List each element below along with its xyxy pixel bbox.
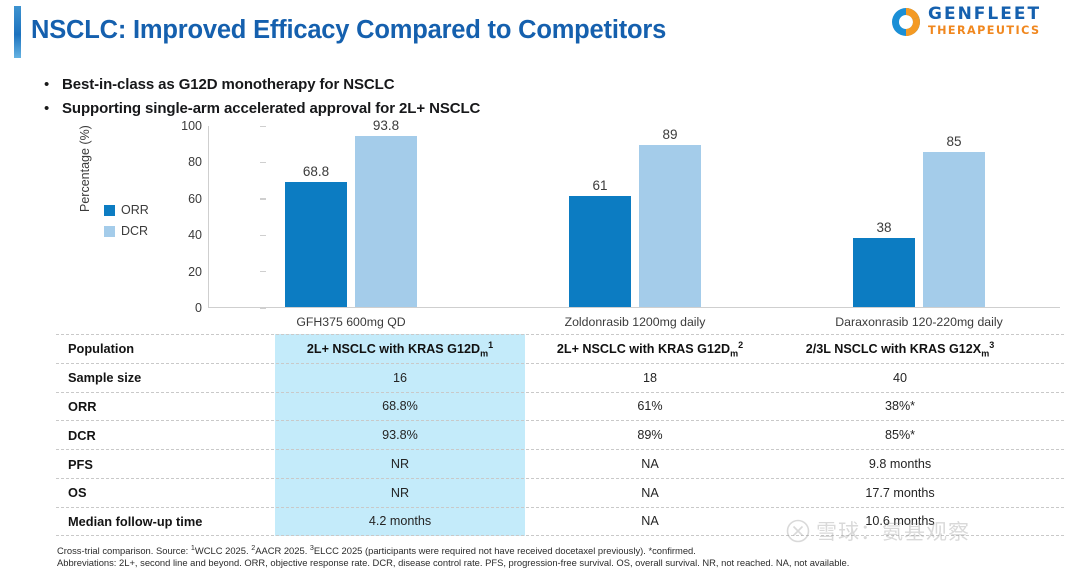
footnote-source: Cross-trial comparison. Source: 1WCLC 20…: [57, 542, 1067, 557]
bullet-text: Best-in-class as G12D monotherapy for NS…: [62, 74, 394, 95]
table-cell: NR: [275, 486, 525, 500]
legend-label-dcr: DCR: [121, 225, 148, 237]
bar-value-label: 85: [946, 134, 961, 149]
y-tick-label: 0: [158, 301, 202, 315]
table-cell: 17.7 months: [775, 486, 1025, 500]
table-cell: 10.6 months: [775, 514, 1025, 528]
footnotes: Cross-trial comparison. Source: 1WCLC 20…: [57, 542, 1067, 568]
bullet-list: • Best-in-class as G12D monotherapy for …: [44, 74, 744, 122]
table-row: ORR68.8%61%38%*: [56, 392, 1064, 421]
bar-rect: [923, 152, 985, 307]
table-cell: 61%: [525, 399, 775, 413]
footnote-abbreviations: Abbreviations: 2L+, second line and beyo…: [57, 557, 1067, 569]
table-cell: NA: [525, 514, 775, 528]
bullet-text: Supporting single-arm accelerated approv…: [62, 98, 480, 119]
bar-rect: [639, 145, 701, 307]
table-row-label: Population: [56, 341, 275, 356]
bar-group: 68.893.8GFH375 600mg QD: [209, 125, 493, 307]
table-row: Median follow-up time4.2 monthsNA10.6 mo…: [56, 507, 1064, 536]
legend-item-orr: ORR: [104, 204, 149, 216]
legend-label-orr: ORR: [121, 204, 149, 216]
bar-orr[interactable]: 68.8: [285, 125, 347, 307]
bar-value-label: 89: [662, 127, 677, 142]
table-row: Sample size161840: [56, 363, 1064, 392]
table-row: DCR93.8%89%85%*: [56, 420, 1064, 449]
table-cell: 18: [525, 371, 775, 385]
table-row: Population2L+ NSCLC with KRAS G12Dm12L+ …: [56, 334, 1064, 363]
legend-item-dcr: DCR: [104, 225, 149, 237]
table-row-label: Sample size: [56, 370, 275, 385]
y-tick-label: 20: [158, 265, 202, 279]
slide-header: NSCLC: Improved Efficacy Compared to Com…: [0, 0, 1080, 62]
table-cell: 16: [275, 371, 525, 385]
table-cell: 93.8%: [275, 428, 525, 442]
table-row: OSNRNA17.7 months: [56, 478, 1064, 507]
table-cell: 89%: [525, 428, 775, 442]
bar-group: 6189Zoldonrasib 1200mg daily: [493, 125, 777, 307]
x-axis-category-label: Daraxonrasib 120-220mg daily: [777, 315, 1061, 329]
table-body: Population2L+ NSCLC with KRAS G12Dm12L+ …: [56, 334, 1064, 536]
table-cell: 38%*: [775, 399, 1025, 413]
legend-swatch-dcr: [104, 226, 115, 237]
bar-orr[interactable]: 61: [569, 125, 631, 307]
slide: NSCLC: Improved Efficacy Compared to Com…: [0, 0, 1080, 570]
bar-dcr[interactable]: 85: [923, 125, 985, 307]
table-cell: 40: [775, 371, 1025, 385]
table-cell: NR: [275, 457, 525, 471]
bullet-item: • Best-in-class as G12D monotherapy for …: [44, 74, 744, 95]
y-axis-title: Percentage (%): [78, 72, 92, 212]
logo-wordmark: GENFLEET THERAPEUTICS: [928, 6, 1041, 37]
bar-group: 3885Daraxonrasib 120-220mg daily: [777, 125, 1061, 307]
bullet-marker-icon: •: [44, 98, 62, 119]
bar-rect: [569, 196, 631, 307]
chart-legend: ORR DCR: [104, 204, 149, 246]
table-cell: NA: [525, 457, 775, 471]
table-row-label: OS: [56, 485, 275, 500]
bullet-item: • Supporting single-arm accelerated appr…: [44, 98, 744, 119]
comparison-table: Population2L+ NSCLC with KRAS G12Dm12L+ …: [56, 334, 1064, 536]
x-axis-category-label: Zoldonrasib 1200mg daily: [493, 315, 777, 329]
bar-value-label: 38: [876, 220, 891, 235]
y-tick-label: 60: [158, 192, 202, 206]
bar-rect: [285, 182, 347, 307]
table-header-cell: 2/3L NSCLC with KRAS G12Xm3: [775, 340, 1025, 359]
table-header-cell: 2L+ NSCLC with KRAS G12Dm2: [525, 340, 775, 359]
efficacy-bar-chart: ORR DCR Percentage (%) 020406080100 68.8…: [100, 126, 1060, 331]
table-cell: 4.2 months: [275, 514, 525, 528]
bar-dcr[interactable]: 89: [639, 125, 701, 307]
bar-rect: [853, 238, 915, 307]
y-tick-label: 40: [158, 228, 202, 242]
y-axis-ticks: 020406080100: [158, 119, 202, 301]
y-tick-label: 80: [158, 155, 202, 169]
bullet-marker-icon: •: [44, 74, 62, 95]
table-row-label: ORR: [56, 399, 275, 414]
company-logo: GENFLEET THERAPEUTICS: [890, 5, 1066, 41]
logo-subtitle: THERAPEUTICS: [928, 24, 1041, 37]
bar-value-label: 93.8: [373, 118, 399, 133]
x-axis-category-label: GFH375 600mg QD: [209, 315, 493, 329]
table-row-label: PFS: [56, 457, 275, 472]
legend-swatch-orr: [104, 205, 115, 216]
table-cell: 85%*: [775, 428, 1025, 442]
bar-orr[interactable]: 38: [853, 125, 915, 307]
bar-value-label: 68.8: [303, 164, 329, 179]
bar-dcr[interactable]: 93.8: [355, 125, 417, 307]
page-title: NSCLC: Improved Efficacy Compared to Com…: [31, 16, 666, 45]
table-cell: 9.8 months: [775, 457, 1025, 471]
table-header-cell: 2L+ NSCLC with KRAS G12Dm1: [275, 340, 525, 359]
table-cell: 68.8%: [275, 399, 525, 413]
chart-plot-area: 68.893.8GFH375 600mg QD6189Zoldonrasib 1…: [208, 126, 1060, 308]
table-cell: NA: [525, 486, 775, 500]
bar-value-label: 61: [592, 178, 607, 193]
title-accent-bar: [14, 6, 21, 58]
table-row-label: DCR: [56, 428, 275, 443]
y-tick-label: 100: [158, 119, 202, 133]
logo-name: GENFLEET: [928, 6, 1041, 23]
bar-rect: [355, 136, 417, 307]
genfleet-logo-icon: [890, 6, 922, 38]
table-row: PFSNRNA9.8 months: [56, 449, 1064, 478]
table-row-label: Median follow-up time: [56, 514, 275, 529]
